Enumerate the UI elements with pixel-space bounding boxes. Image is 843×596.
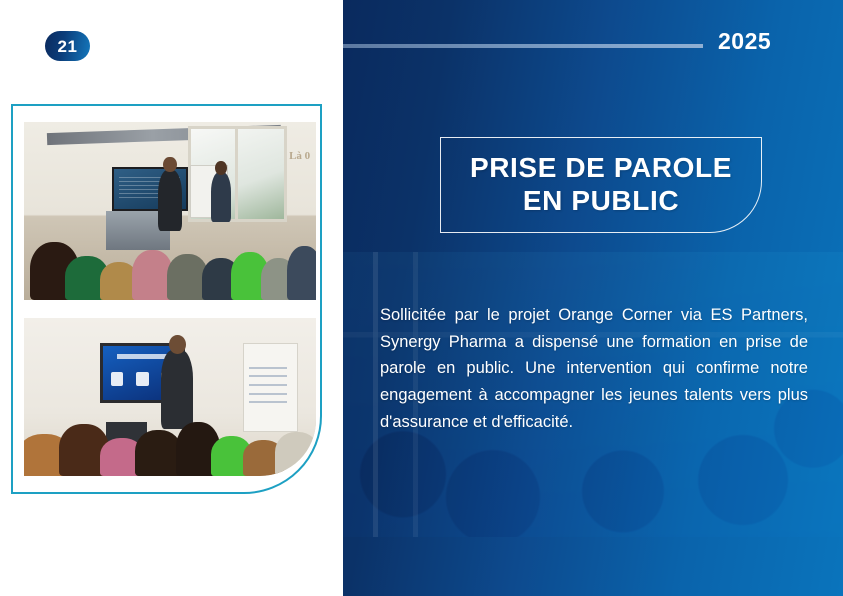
slide: 21 Là 0: [0, 0, 843, 596]
year-label: 2025: [718, 28, 771, 55]
photo2-audience: [24, 410, 316, 476]
page-number-label: 21: [58, 38, 78, 55]
header-rule: [343, 44, 703, 48]
photo1-audience: [24, 204, 316, 300]
photo2-slide-tile: [136, 372, 149, 386]
photo1-wall-text: Là 0: [289, 150, 310, 162]
title-line-1: PRISE DE PAROLE: [470, 152, 732, 185]
photo-frame: Là 0: [11, 104, 322, 494]
photo2-slide-tile: [111, 372, 124, 386]
body-paragraph: Sollicitée par le projet Orange Corner v…: [380, 302, 808, 436]
photo-speaker-with-slide-screen: [24, 318, 316, 476]
left-pane: 21 Là 0: [0, 0, 343, 596]
page-number-badge: 21: [45, 31, 90, 61]
right-pane: 2025 PRISE DE PAROLE EN PUBLIC Sollicité…: [343, 0, 843, 596]
photo-training-room-presentation: Là 0: [24, 122, 316, 300]
photo2-slide-title-bar: [117, 354, 167, 359]
title-line-2: EN PUBLIC: [523, 185, 679, 218]
title-box: PRISE DE PAROLE EN PUBLIC: [440, 137, 762, 233]
